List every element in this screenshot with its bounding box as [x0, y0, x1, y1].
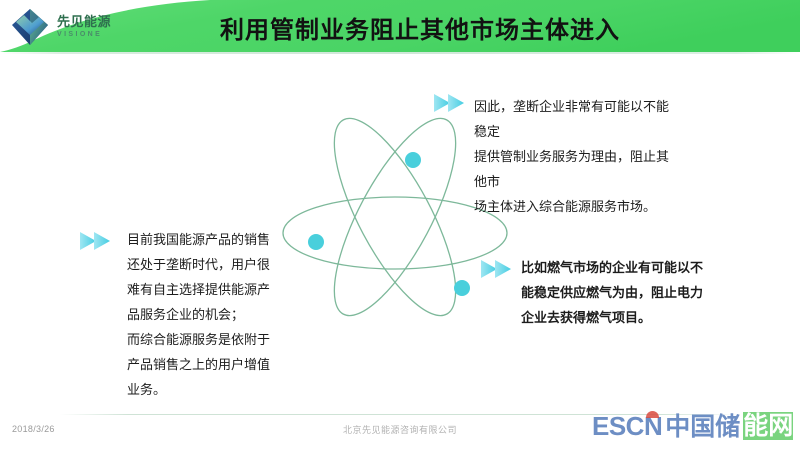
- watermark-cn-highlight: 能网: [743, 412, 793, 440]
- slide-header: 先见能源 VISIONE 利用管制业务阻止其他市场主体进入: [0, 0, 800, 53]
- double-chevron-icon: [434, 92, 476, 114]
- bullet-text-bottom-right: 比如燃气市场的企业有可能以不 能稳定供应燃气为由，阻止电力 企业去获得燃气项目。: [521, 256, 721, 331]
- header-divider: [0, 52, 800, 54]
- double-chevron-icon: [80, 230, 122, 252]
- bullet-text-top-right: 因此，垄断企业非常有可能以不能稳定 提供管制业务服务为理由，阻止其他市 场主体进…: [474, 95, 674, 220]
- watermark-cn-plain: 中国储: [665, 414, 740, 439]
- electron-dot: [454, 280, 470, 296]
- page-title: 利用管制业务阻止其他市场主体进入: [0, 10, 800, 45]
- watermark-accent-icon: [646, 411, 659, 418]
- double-chevron-icon: [481, 258, 523, 280]
- slide-canvas: 先见能源 VISIONE 利用管制业务阻止其他市场主体进入 目前我国能源产品的销…: [0, 0, 800, 450]
- electron-dot: [308, 234, 324, 250]
- bullet-text-left: 目前我国能源产品的销售 还处于垄断时代，用户很 难有自主选择提供能源产 品服务企…: [127, 228, 307, 403]
- escn-watermark: ESCN 中国储 能网: [592, 410, 793, 442]
- electron-dot: [405, 152, 421, 168]
